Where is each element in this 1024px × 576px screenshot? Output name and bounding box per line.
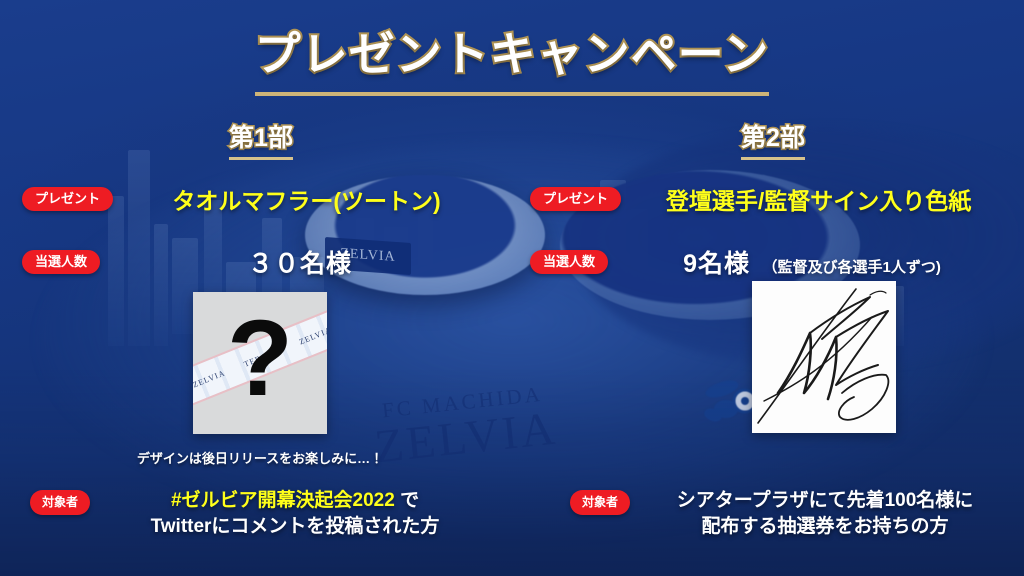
part1-prize-value: タオルマフラー(ツートン) (113, 182, 500, 216)
part1-winners-value: ３０名様 (100, 244, 500, 280)
part1-image-note: デザインは後日リリースをお楽しみに…！ (60, 448, 460, 467)
part1-target-pill: 対象者 (30, 490, 90, 515)
part2-prize-pill: プレゼント (530, 187, 621, 211)
part2-prize-value: 登壇選手/監督サイン入り色紙 (621, 182, 1016, 216)
part2-target-line1: シアタープラザにて先着100名様に (630, 488, 1020, 514)
part1-product-image: ZELVIA TERADA ZELVIA ? (193, 292, 327, 434)
part1-heading-label: 第1部 (229, 118, 293, 160)
part1-heading: 第1部 (22, 118, 500, 160)
part1-target-line1: #ゼルビア開幕決起会2022 で (90, 488, 500, 514)
campaign-graphic: ZELVIA FC MACHIDA ZELVIA プレゼントキャンペーン 第1部… (0, 0, 1024, 576)
section-part2: 第2部 プレゼント 登壇選手/監督サイン入り色紙 当選人数 9名様 （監督及び各… (530, 118, 1016, 280)
title-container: プレゼントキャンペーン (0, 18, 1024, 96)
part1-target-row: 対象者 #ゼルビア開幕決起会2022 で Twitterにコメントを投稿された方 (30, 488, 500, 539)
part2-heading-label: 第2部 (741, 118, 805, 160)
part2-target-line2: 配布する抽選券をお持ちの方 (630, 514, 1020, 540)
part2-prize-row: プレゼント 登壇選手/監督サイン入り色紙 (530, 182, 1016, 216)
part1-target-text: #ゼルビア開幕決起会2022 で Twitterにコメントを投稿された方 (90, 488, 500, 539)
part2-winners-value: 9名様 (683, 250, 750, 278)
part2-target-pill: 対象者 (570, 490, 630, 515)
part1-prize-pill: プレゼント (22, 187, 113, 211)
part2-heading: 第2部 (530, 118, 1016, 160)
part2-target-text: シアタープラザにて先着100名様に 配布する抽選券をお持ちの方 (630, 488, 1020, 539)
part2-winners-pill: 当選人数 (530, 250, 608, 274)
autograph-signature-icon (752, 281, 896, 433)
part1-target-hashtag: #ゼルビア開幕決起会2022 (171, 490, 395, 511)
part2-winners-note: （監督及び各選手1人ずつ) (763, 259, 941, 276)
part1-prize-row: プレゼント タオルマフラー(ツートン) (22, 182, 500, 216)
part1-target-line1-tail: で (400, 490, 419, 511)
part1-winners-row: 当選人数 ３０名様 (22, 244, 500, 280)
part1-winners-pill: 当選人数 (22, 250, 100, 274)
question-mark-icon: ? (193, 296, 327, 420)
part2-product-image (752, 281, 896, 433)
part1-target-line2: Twitterにコメントを投稿された方 (90, 514, 500, 540)
section-part1: 第1部 プレゼント タオルマフラー(ツートン) 当選人数 ３０名様 (22, 118, 500, 280)
part2-winners-value-group: 9名様 （監督及び各選手1人ずつ) (608, 244, 1016, 280)
part2-winners-row: 当選人数 9名様 （監督及び各選手1人ずつ) (530, 244, 1016, 280)
part2-target-row: 対象者 シアタープラザにて先着100名様に 配布する抽選券をお持ちの方 (570, 488, 1020, 539)
page-title: プレゼントキャンペーン (255, 18, 770, 96)
